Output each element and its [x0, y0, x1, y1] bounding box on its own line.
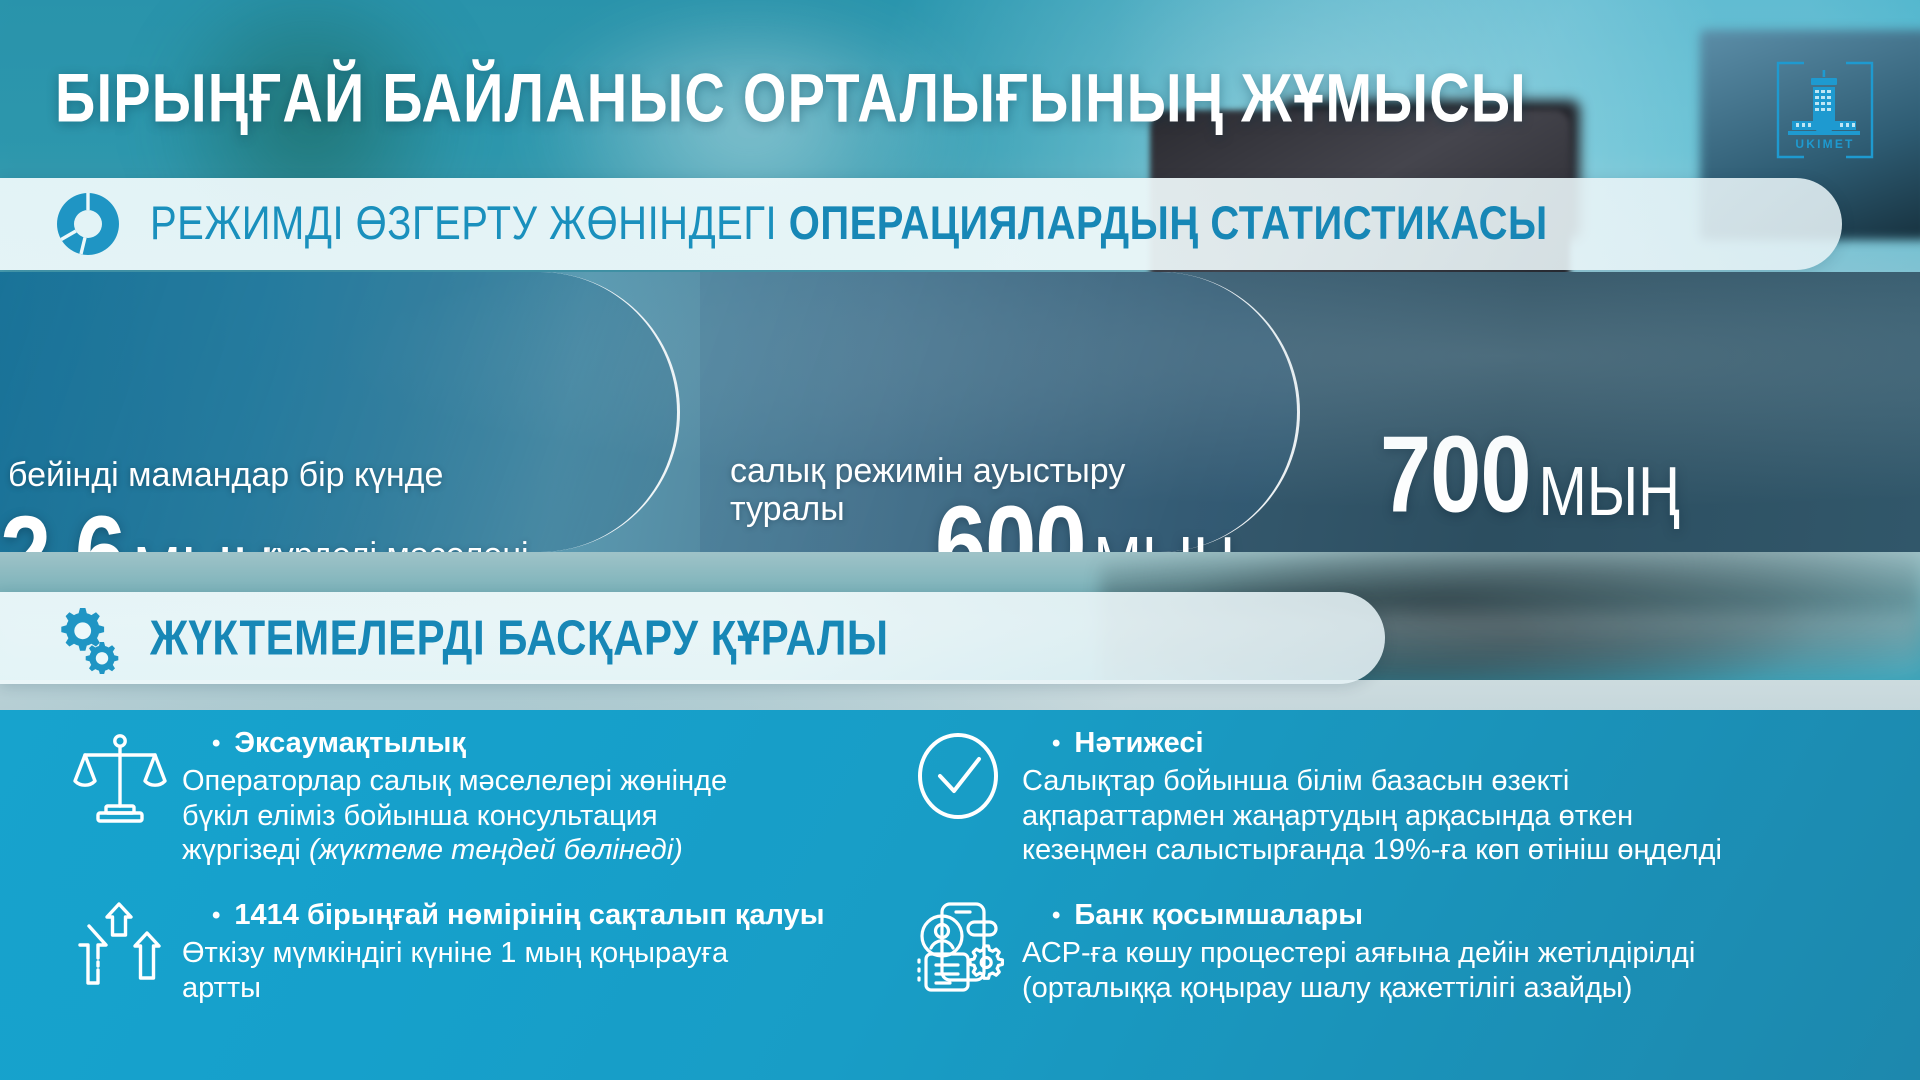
bullet-dot: • [212, 731, 220, 757]
feature-4-desc-line2: (орталыққа қоңырау шалу қажеттілігі азай… [1022, 971, 1695, 1006]
feature-4-body: •Банк қосымшалары АСР-ға көшу процестері… [1022, 898, 1695, 1005]
stat-card-2-unit: МЫҢ [1094, 528, 1236, 552]
feature-2-desc-line1: Өткізу мүмкіндігі күніне 1 мың қоңырауға [182, 936, 825, 971]
bullet-dot: • [1052, 903, 1060, 929]
page-title: БІРЫҢҒАЙ БАЙЛАНЫС ОРТАЛЫҒЫНЫҢ ЖҰМЫСЫ [55, 58, 1527, 137]
stat-card-2-lead-line2: туралы [730, 490, 1125, 528]
feature-2-title: 1414 бірыңғай нөмірінің сақталып қалуы [234, 899, 824, 931]
stat-card-3-value: 700 [1380, 424, 1531, 527]
infographic-canvas: БІРЫҢҒАЙ БАЙЛАНЫС ОРТАЛЫҒЫНЫҢ ЖҰМЫСЫ [0, 0, 1920, 1080]
feature-3-desc-line1: Салықтар бойынша білім базасын өзекті [1022, 764, 1722, 799]
stat-card-3-value-group: 700 МЫҢ [1380, 440, 1680, 527]
feature-3-body: •Нәтижесі Салықтар бойынша білім базасын… [1022, 726, 1722, 868]
section-header-tools: ЖҮКТЕМЕЛЕРДІ БАСҚАРУ ҚҰРАЛЫ [0, 592, 1385, 684]
feature-1-desc-line2: бүкіл еліміз бойынша консультация [182, 799, 727, 834]
feature-3-title: Нәтижесі [1074, 727, 1203, 759]
stat-card-1-lead: бейінді мамандар бір күнде [8, 456, 443, 494]
stat-card-1-unit: МЫҢ [133, 538, 275, 552]
feature-1414-number: •1414 бірыңғай нөмірінің сақталып қалуы … [72, 898, 932, 1005]
stat-card-tax-forms: 700 МЫҢ салықтық есеп беру формасы қабыл… [1330, 272, 1920, 552]
check-circle-icon [912, 726, 1008, 826]
stat-card-2-value-group: 600 МЫҢ [935, 510, 1235, 552]
section-title-light: РЕЖИМДІ ӨЗГЕРТУ ЖӨНІНДЕГІ [150, 197, 789, 249]
bullet-dot: • [1052, 731, 1060, 757]
feature-2-body: •1414 бірыңғай нөмірінің сақталып қалуы … [182, 898, 825, 1005]
feature-2-desc-line2: артты [182, 971, 825, 1006]
section-title-bold: ОПЕРАЦИЯЛАРДЫҢ СТАТИСТИКАСЫ [789, 197, 1548, 249]
feature-3-desc: Салықтар бойынша білім базасын өзекті ақ… [1022, 764, 1722, 868]
ukimet-logo: UKIMET [1770, 55, 1880, 165]
stat-card-2-lead: салық режимін ауыстыру туралы [730, 452, 1125, 528]
mobile-service-gear-icon [912, 898, 1008, 998]
statistics-strip: бейінді мамандар бір күнде 2,6 МЫҢ күрде… [0, 272, 1920, 552]
feature-result: •Нәтижесі Салықтар бойынша білім базасын… [912, 726, 1872, 868]
stat-card-1-tail-line1: күрделі мәселені [262, 536, 529, 552]
stat-card-2-lead-line1: салық режимін ауыстыру [730, 452, 1125, 490]
feature-2-desc: Өткізу мүмкіндігі күніне 1 мың қоңырауға… [182, 936, 825, 1006]
section-header-tools-text: ЖҮКТЕМЕЛЕРДІ БАСҚАРУ ҚҰРАЛЫ [150, 610, 888, 667]
feature-1-body: •Эксаумақтылық Операторлар салық мәселел… [182, 726, 727, 868]
feature-3-desc-line2: ақпараттармен жаңартудың арқасында өткен [1022, 799, 1722, 834]
logo-wordmark: UKIMET [1795, 137, 1854, 151]
feature-1-desc-line3: жүргізеді (жүктеме теңдей бөлінеді) [182, 833, 727, 868]
stat-card-1-value: 2,6 [0, 504, 125, 552]
feature-4-title: Банк қосымшалары [1074, 899, 1363, 931]
stat-card-1-tail: күрделі мәселені шешеді [262, 536, 529, 552]
up-arrows-icon [72, 898, 168, 998]
feature-4-title-row: •Банк қосымшалары [1022, 900, 1695, 932]
stat-card-1-value-group: 2,6 МЫҢ [0, 520, 274, 552]
feature-2-title-row: •1414 бірыңғай нөмірінің сақталып қалуы [182, 900, 825, 932]
feature-1-desc-line1: Операторлар салық мәселелері жөнінде [182, 764, 727, 799]
stat-card-3-unit: МЫҢ [1539, 458, 1681, 528]
feature-1-desc: Операторлар салық мәселелері жөнінде бүк… [182, 764, 727, 868]
donut-chart-icon [52, 188, 124, 260]
stat-card-specialists: бейінді мамандар бір күнде 2,6 МЫҢ күрде… [0, 272, 680, 552]
balance-scales-icon [72, 726, 168, 826]
feature-4-desc: АСР-ға көшу процестері аяғына дейін жеті… [1022, 936, 1695, 1006]
feature-4-desc-line1: АСР-ға көшу процестері аяғына дейін жеті… [1022, 936, 1695, 971]
feature-1-desc-line3-plain: жүргізеді [182, 834, 309, 866]
stat-card-notifications: салық режимін ауыстыру туралы 600 МЫҢ ха… [700, 272, 1300, 552]
feature-1-desc-line3-italic: (жүктеме теңдей бөлінеді) [309, 834, 683, 866]
feature-3-title-row: •Нәтижесі [1022, 728, 1722, 760]
section-header-statistics: РЕЖИМДІ ӨЗГЕРТУ ЖӨНІНДЕГІ ОПЕРАЦИЯЛАРДЫҢ… [0, 178, 1842, 270]
stat-card-2-value: 600 [935, 494, 1086, 552]
feature-1-title-row: •Эксаумақтылық [182, 728, 727, 760]
feature-3-desc-line3: кезеңмен салыстырғанда 19%-ға көп өтініш… [1022, 833, 1722, 868]
section-header-statistics-text: РЕЖИМДІ ӨЗГЕРТУ ЖӨНІНДЕГІ ОПЕРАЦИЯЛАРДЫҢ… [150, 197, 1548, 250]
feature-bank-apps: •Банк қосымшалары АСР-ға көшу процестері… [912, 898, 1892, 1005]
feature-1-title: Эксаумақтылық [234, 727, 466, 759]
title-band: БІРЫҢҒАЙ БАЙЛАНЫС ОРТАЛЫҒЫНЫҢ ЖҰМЫСЫ [0, 0, 1920, 175]
feature-extraterritoriality: •Эксаумақтылық Операторлар салық мәселел… [72, 726, 892, 868]
bullet-dot: • [212, 903, 220, 929]
gears-icon [52, 602, 124, 674]
